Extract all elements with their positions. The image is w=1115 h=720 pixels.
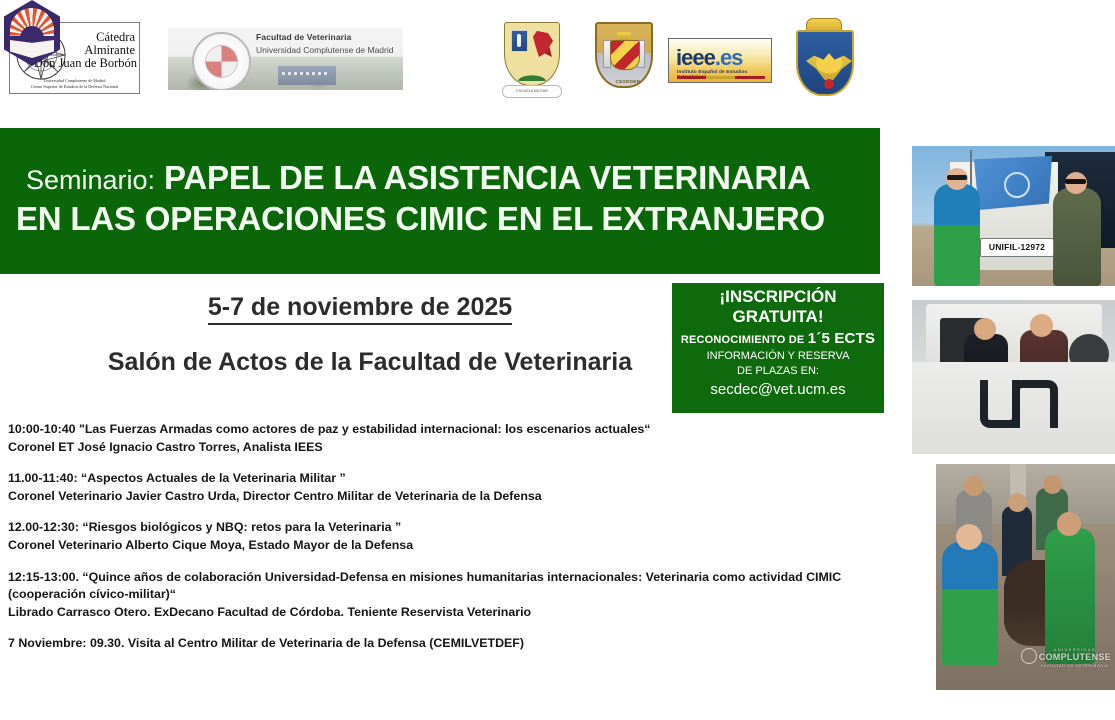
banner-line-1: Seminario: PAPEL DE LA ASISTENCIA VETERI…: [26, 160, 866, 197]
complutense-watermark: UNIVERSIDAD COMPLUTENSE FACULTAD DE VETE…: [1039, 647, 1111, 668]
inscription-info-line1: INFORMACIÓN Y RESERVA: [672, 349, 884, 363]
program-item-title: 10:00-10:40 "Las Fuerzas Armadas como ac…: [8, 421, 888, 439]
photo-field-veterinary: UNIVERSIDAD COMPLUTENSE FACULTAD DE VETE…: [936, 464, 1115, 690]
logo-strip: Cátedra Almirante Don Juan de Borbón Uni…: [0, 0, 1115, 118]
person-head: [1057, 512, 1081, 536]
shield-shape: CESEDEN: [595, 22, 653, 88]
person-olive-uniform: [1053, 188, 1101, 286]
lion-icon: [533, 31, 553, 57]
program-item-speaker: Librado Carrasco Otero. ExDecano Faculta…: [8, 604, 888, 622]
person-head: [964, 476, 984, 496]
inscription-box: ¡INSCRIPCIÓN GRATUITA! RECONOCIMIENTO DE…: [672, 283, 884, 413]
crest-scroll-caption: ESCUELA MILITAR: [502, 85, 562, 98]
event-date: 5-7 de noviembre de 2025: [0, 293, 720, 322]
ieee-wordmark: ieee.es: [676, 45, 742, 71]
crown-icon: [617, 32, 631, 40]
event-date-text: 5-7 de noviembre de 2025: [208, 293, 512, 325]
ceseden-caption: CESEDEN: [601, 79, 653, 84]
un-letter-n: [1012, 380, 1058, 428]
photo-unifil-flag: UNIFIL-12972: [912, 146, 1115, 286]
program-item: 7 Noviembre: 09.30. Visita al Centro Mil…: [8, 635, 888, 653]
inscription-ects-prefix: RECONOCIMIENTO DE: [681, 334, 805, 346]
inscription-email[interactable]: secdec@vet.ucm.es: [672, 381, 884, 398]
program-item: 12:15-13:00. “Quince años de colaboració…: [8, 569, 888, 622]
spanish-arms-icon: [610, 40, 640, 70]
inscription-title: ¡INSCRIPCIÓN GRATUITA!: [672, 287, 884, 326]
ceseden-crest: CESEDEN: [591, 22, 653, 98]
laurel-icon: [509, 61, 555, 81]
photo-un-vehicle: [912, 300, 1115, 454]
veterinarian-green-uniform: [1045, 528, 1095, 664]
sunglasses-icon: [1065, 179, 1086, 184]
catedra-sub2: Centro Superior de Estudios de la Defens…: [10, 84, 139, 90]
veterinarian-blue-shirt: [942, 542, 998, 666]
program-item-speaker: Coronel Veterinario Javier Castro Urda, …: [8, 488, 888, 506]
banner-title-line2: EN LAS OPERACIONES CIMIC EN EL EXTRANJER…: [16, 201, 866, 238]
eagle-icon: [806, 52, 852, 82]
red-disc-icon: [824, 79, 834, 89]
program-item-title: 12.00-12:30: “Riesgos biológicos y NBQ: …: [8, 519, 888, 537]
person-head: [974, 318, 996, 340]
building-shape: [278, 66, 336, 85]
ucm-vet-subtitle: Universidad Complutense de Madrid: [256, 45, 394, 55]
program-item: 11.00-11:40: “Aspectos Actuales de la Ve…: [8, 470, 888, 505]
person-head: [1043, 475, 1062, 494]
program-schedule: 10:00-10:40 "Las Fuerzas Armadas como ac…: [8, 421, 888, 653]
program-item-speaker: Coronel Veterinario Alberto Cique Moya, …: [8, 537, 888, 555]
air-force-crest: [792, 18, 854, 100]
event-venue: Salón de Actos de la Facultad de Veterin…: [0, 348, 740, 377]
ucm-seal-icon: [192, 32, 251, 90]
watermark-main: COMPLUTENSE: [1039, 652, 1111, 663]
shield-shape: [796, 30, 854, 96]
banner-title-line1: PAPEL DE LA ASISTENCIA VETERINARIA: [164, 159, 811, 196]
program-item-title: 11.00-11:40: “Aspectos Actuales de la Ve…: [8, 470, 888, 488]
inscription-info-line2: DE PLAZAS EN:: [672, 364, 884, 378]
vehicle-plate: UNIFIL-12972: [980, 238, 1054, 257]
ucm-vet-title: Facultad de Veterinaria: [256, 32, 351, 42]
complutense-seal-icon: [1021, 648, 1037, 664]
person-head: [956, 524, 982, 550]
program-item: 12.00-12:30: “Riesgos biológicos y NBQ: …: [8, 519, 888, 554]
inscription-info: INFORMACIÓN Y RESERVA DE PLAZAS EN:: [672, 349, 884, 377]
shield-shape: [504, 22, 560, 86]
program-item-title: 7 Noviembre: 09.30. Visita al Centro Mil…: [8, 635, 888, 653]
seminar-title-banner: Seminario: PAPEL DE LA ASISTENCIA VETERI…: [0, 128, 880, 274]
program-item-title: 12:15-13:00. “Quince años de colaboració…: [8, 569, 888, 604]
ieee-word-suffix: .es: [715, 45, 743, 70]
banner-prefix: Seminario:: [26, 165, 155, 195]
un-flag-shape: [974, 156, 1052, 210]
inscription-title-line2: GRATUITA!: [672, 307, 884, 327]
person-head: [1030, 314, 1053, 337]
blue-quarter-icon: [511, 30, 528, 52]
military-school-crest: ESCUELA MILITAR: [500, 22, 562, 98]
person-head: [1008, 493, 1027, 512]
sunglasses-icon: [947, 175, 967, 180]
ieee-word-main: ieee: [676, 45, 715, 70]
program-item: 10:00-10:40 "Las Fuerzas Armadas como ac…: [8, 421, 888, 456]
inscription-ects: RECONOCIMIENTO DE 1´5 ECTS: [672, 330, 884, 347]
catedra-subtitle: Universidad Complutense de Madrid Centro…: [10, 78, 139, 90]
program-item-speaker: Coronel ET José Ignacio Castro Torres, A…: [8, 439, 888, 457]
inscription-title-line1: ¡INSCRIPCIÓN: [672, 287, 884, 307]
ieee-color-bars: [677, 76, 765, 79]
person-green-uniform: [934, 184, 980, 286]
watermark-bottom: FACULTAD DE VETERINARIA: [1039, 664, 1111, 668]
inscription-ects-value: 1´5 ECTS: [808, 330, 875, 347]
ucm-veterinaria-logo: Facultad de Veterinaria Universidad Comp…: [168, 28, 403, 90]
ieee-es-logo: ieee.es Instituto Español de Estudios Es…: [668, 38, 772, 83]
